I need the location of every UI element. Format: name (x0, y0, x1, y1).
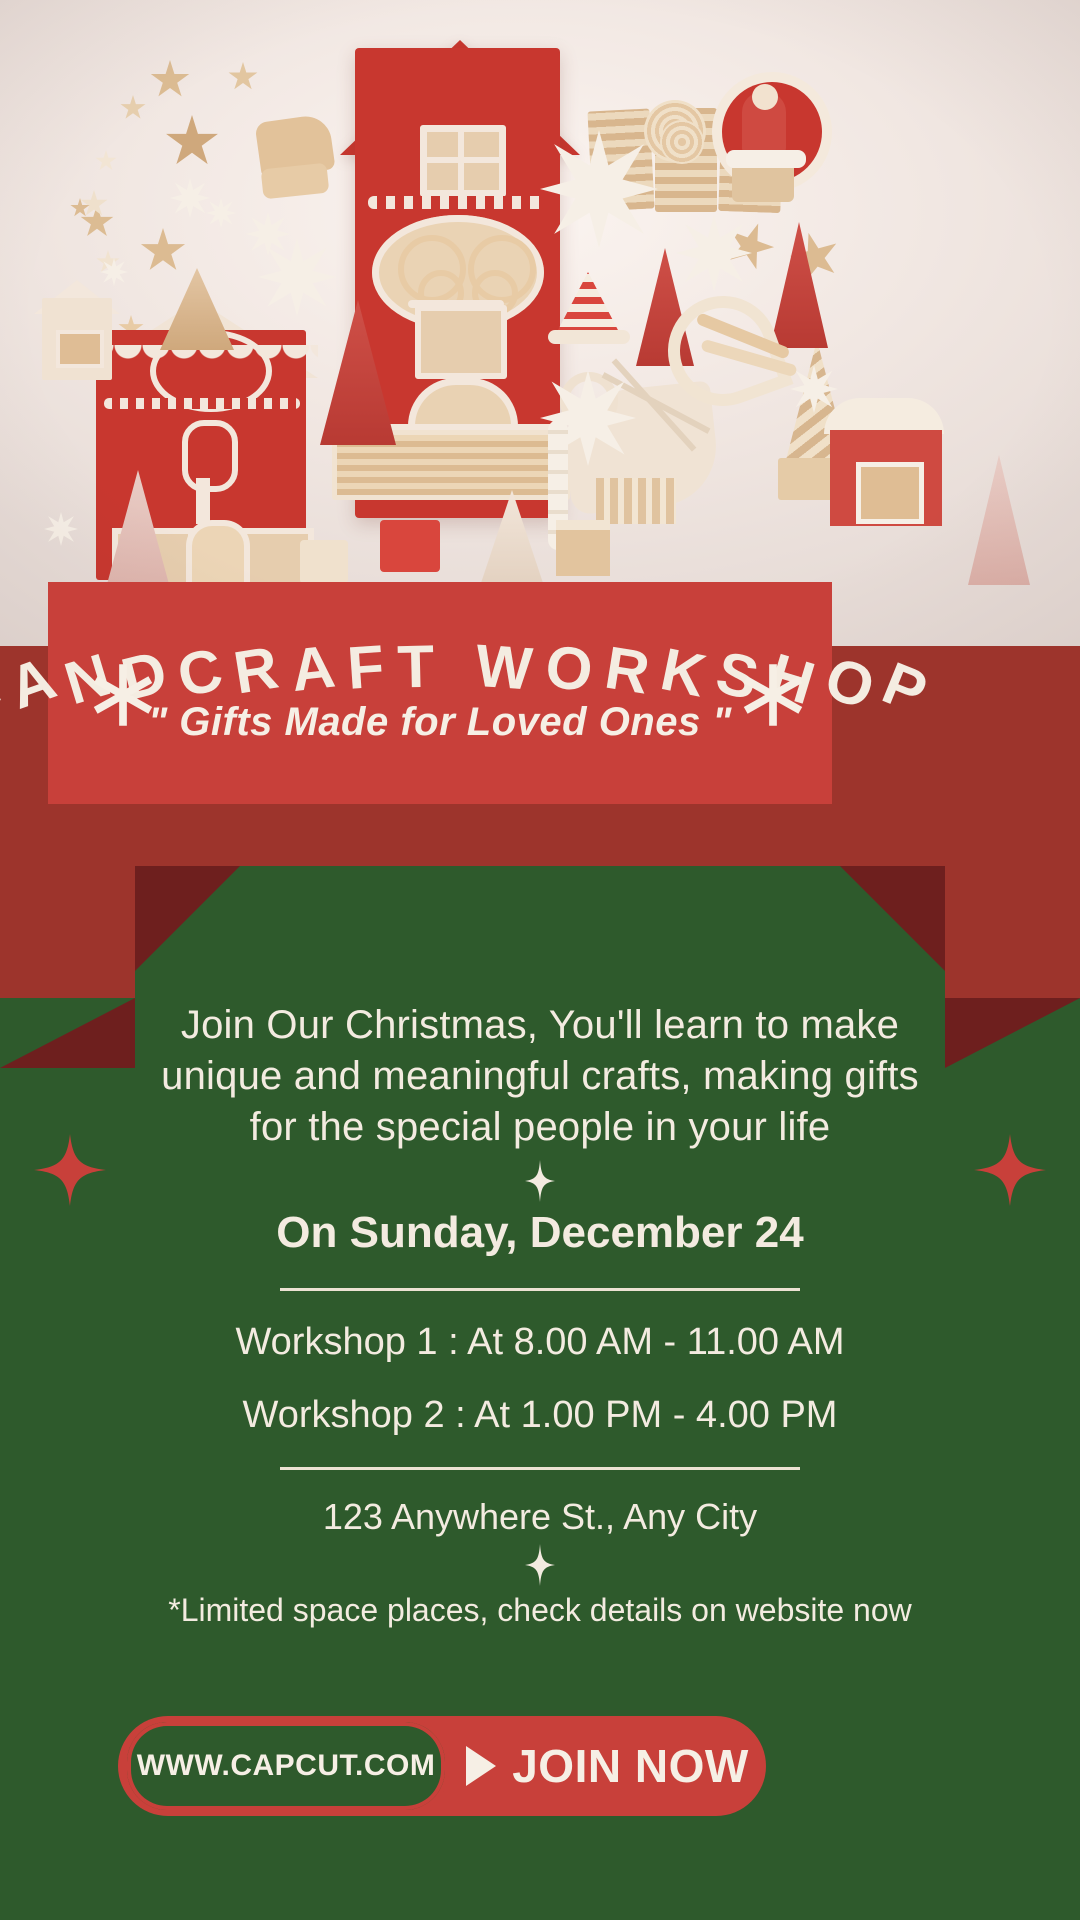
title-letter: K (656, 639, 711, 707)
title-letter: O (542, 636, 595, 701)
session-2: Workshop 2 : At 1.00 PM - 4.00 PM (0, 1394, 1080, 1437)
page-subtitle: " Gifts Made for Loved Ones " (48, 700, 832, 745)
event-date: On Sunday, December 24 (0, 1208, 1080, 1258)
event-note: *Limited space places, check details on … (0, 1592, 1080, 1629)
event-details: Join Our Christmas, You'll learn to make… (0, 1000, 1080, 1629)
title-letter: W (474, 636, 535, 700)
title-letter: T (396, 637, 434, 698)
join-now-button[interactable]: JOIN NOW (449, 1739, 766, 1793)
title-letter: A (288, 637, 338, 702)
divider-sparkle-icon (525, 1160, 555, 1202)
divider-rule (280, 1288, 800, 1291)
divider-sparkle-icon (525, 1544, 555, 1586)
title-letter: F (345, 636, 386, 698)
lead-paragraph: Join Our Christmas, You'll learn to make… (0, 1000, 1080, 1154)
snowflake-icon (88, 660, 158, 730)
event-address: 123 Anywhere St., Any City (0, 1496, 1080, 1538)
title-letter: R (601, 638, 653, 704)
session-1: Workshop 1 : At 8.00 AM - 11.00 AM (0, 1321, 1080, 1364)
poster-canvas: HANDCRAFT WORKSHOP " Gifts Made for Love… (0, 0, 1080, 1920)
lead-line: Join Our Christmas, You'll learn to make (150, 1000, 930, 1051)
title-letter: R (230, 638, 282, 704)
lead-line: for the special people in your life (150, 1102, 930, 1153)
website-url-pill[interactable]: WWW.CAPCUT.COM (123, 1718, 449, 1814)
website-url-label: WWW.CAPCUT.COM (137, 1749, 436, 1783)
play-triangle-icon (466, 1746, 496, 1786)
title-letter: C (173, 639, 228, 707)
snowflake-icon (738, 660, 808, 730)
cta-bar[interactable]: WWW.CAPCUT.COM JOIN NOW (118, 1716, 766, 1816)
lead-line: unique and meaningful crafts, making gif… (150, 1051, 930, 1102)
divider-rule (280, 1467, 800, 1470)
join-now-label: JOIN NOW (512, 1739, 749, 1793)
title-letter (446, 637, 463, 697)
